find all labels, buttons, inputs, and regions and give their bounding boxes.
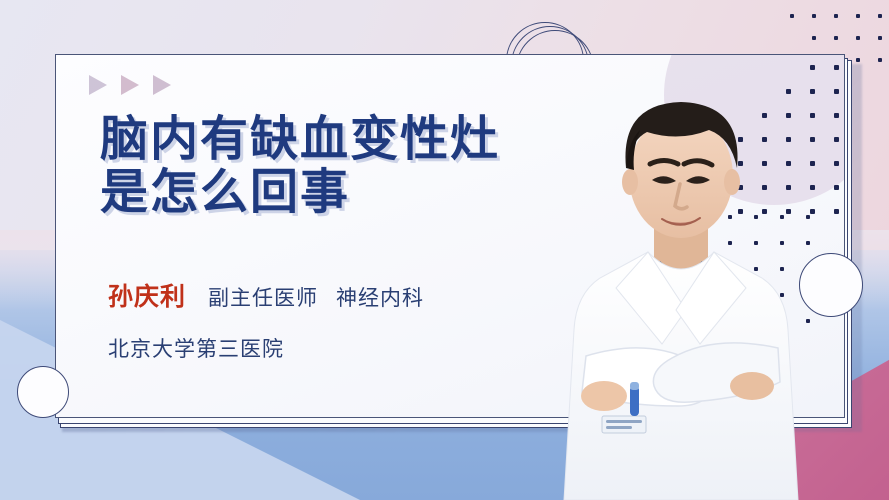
decor-dot xyxy=(806,241,810,245)
doctor-portrait xyxy=(556,56,806,500)
decor-dot xyxy=(810,209,815,214)
doctor-illustration xyxy=(556,56,806,500)
doctor-department: 神经内科 xyxy=(336,282,424,312)
doctor-role: 副主任医师 xyxy=(208,282,318,312)
play-arrow-icon-2 xyxy=(121,75,139,95)
decor-arrows xyxy=(89,75,171,95)
title-line-2: 是怎么回事 xyxy=(100,166,620,219)
page-title: 脑内有缺血变性灶 是怎么回事 xyxy=(100,113,620,219)
play-arrow-icon-3 xyxy=(153,75,171,95)
decor-dot xyxy=(806,319,810,323)
hospital-name: 北京大学第三医院 xyxy=(108,333,284,363)
slide-canvas: 脑内有缺血变性灶 是怎么回事 孙庆利 副主任医师 神经内科 北京大学第三医院 xyxy=(0,0,889,500)
decor-dot xyxy=(834,209,839,214)
doctor-credit: 孙庆利 副主任医师 神经内科 xyxy=(108,277,424,313)
decor-dot xyxy=(806,215,810,219)
doctor-name: 孙庆利 xyxy=(108,277,186,313)
title-line-1: 脑内有缺血变性灶 xyxy=(100,113,620,166)
circle-outline-right xyxy=(799,253,863,317)
play-arrow-icon-1 xyxy=(89,75,107,95)
circle-outline-left xyxy=(17,366,69,418)
